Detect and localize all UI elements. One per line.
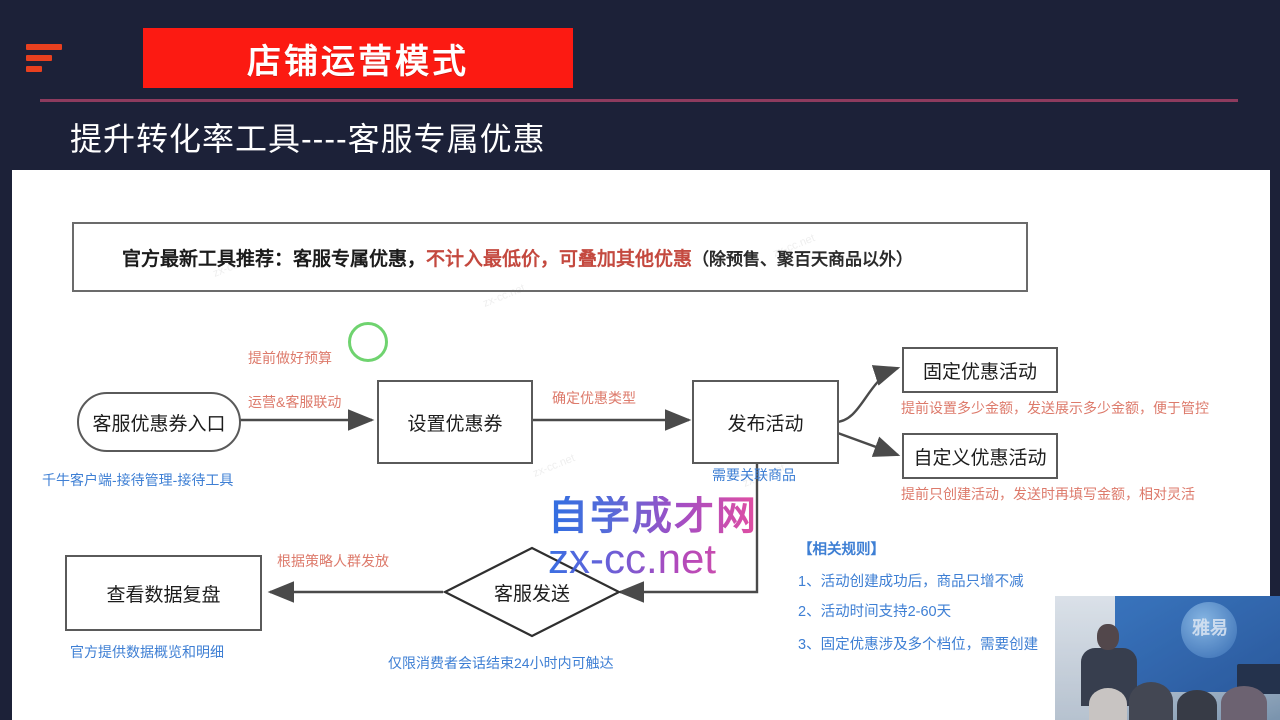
flow-node-review[interactable]: 查看数据复盘 — [65, 555, 262, 631]
presentation-slide: 店铺运营模式 提升转化率工具----客服专属优惠 zx-cc.net zx-cc… — [0, 0, 1280, 720]
rules-title: 【相关规则】 — [798, 538, 885, 559]
flow-node-review-label: 查看数据复盘 — [106, 580, 220, 607]
rules-item-1: 1、活动创建成功后，商品只增不减 — [798, 570, 1024, 591]
flow-node-send-label: 客服发送 — [442, 545, 622, 639]
flow-node-entry[interactable]: 客服优惠券入口 — [77, 392, 241, 452]
header-divider — [40, 99, 1238, 102]
slide-subtitle: 提升转化率工具----客服专属优惠 — [70, 114, 546, 160]
edge-label-custom-desc: 提前只创建活动，发送时再填写金额，相对灵活 — [901, 484, 1195, 504]
rules-item-3: 3、固定优惠涉及多个档位，需要创建 — [798, 633, 1038, 654]
note-entry-path: 千牛客户端-接待管理-接待工具 — [42, 470, 233, 490]
edge-label-strategy: 根据策略人群发放 — [277, 551, 389, 571]
slide-title-badge: 店铺运营模式 — [143, 28, 573, 88]
slide-title-text: 店铺运营模式 — [247, 34, 469, 83]
webcam-color-tint — [1055, 596, 1280, 720]
edge-label-budget: 提前做好预算 — [248, 348, 332, 368]
presenter-webcam-overlay[interactable]: 雅易 — [1055, 596, 1280, 720]
cursor-highlight-ring — [348, 322, 388, 362]
flow-node-send[interactable]: 客服发送 — [442, 545, 622, 639]
flow-node-fixed[interactable]: 固定优惠活动 — [902, 347, 1058, 393]
rules-item-2: 2、活动时间支持2-60天 — [798, 600, 951, 621]
flow-node-publish[interactable]: 发布活动 — [692, 380, 839, 464]
flow-node-publish-label: 发布活动 — [727, 409, 803, 436]
flow-node-entry-label: 客服优惠券入口 — [92, 409, 225, 436]
edge-label-coordination: 运营&客服联动 — [248, 392, 341, 412]
flow-node-setup-label: 设置优惠券 — [407, 409, 502, 436]
flow-node-fixed-label: 固定优惠活动 — [923, 357, 1037, 384]
sort-icon — [26, 44, 72, 76]
note-data-overview: 官方提供数据概览和明细 — [70, 642, 224, 662]
flow-node-custom-label: 自定义优惠活动 — [913, 443, 1046, 470]
flow-node-setup[interactable]: 设置优惠券 — [377, 380, 533, 464]
edge-label-fixed-desc: 提前设置多少金额，发送展示多少金额，便于管控 — [901, 398, 1209, 418]
edge-label-coupon-type: 确定优惠类型 — [552, 388, 636, 408]
note-reach-window: 仅限消费者会话结束24小时内可触达 — [388, 653, 614, 673]
note-link-products: 需要关联商品 — [712, 465, 796, 485]
flow-node-custom[interactable]: 自定义优惠活动 — [902, 433, 1058, 479]
